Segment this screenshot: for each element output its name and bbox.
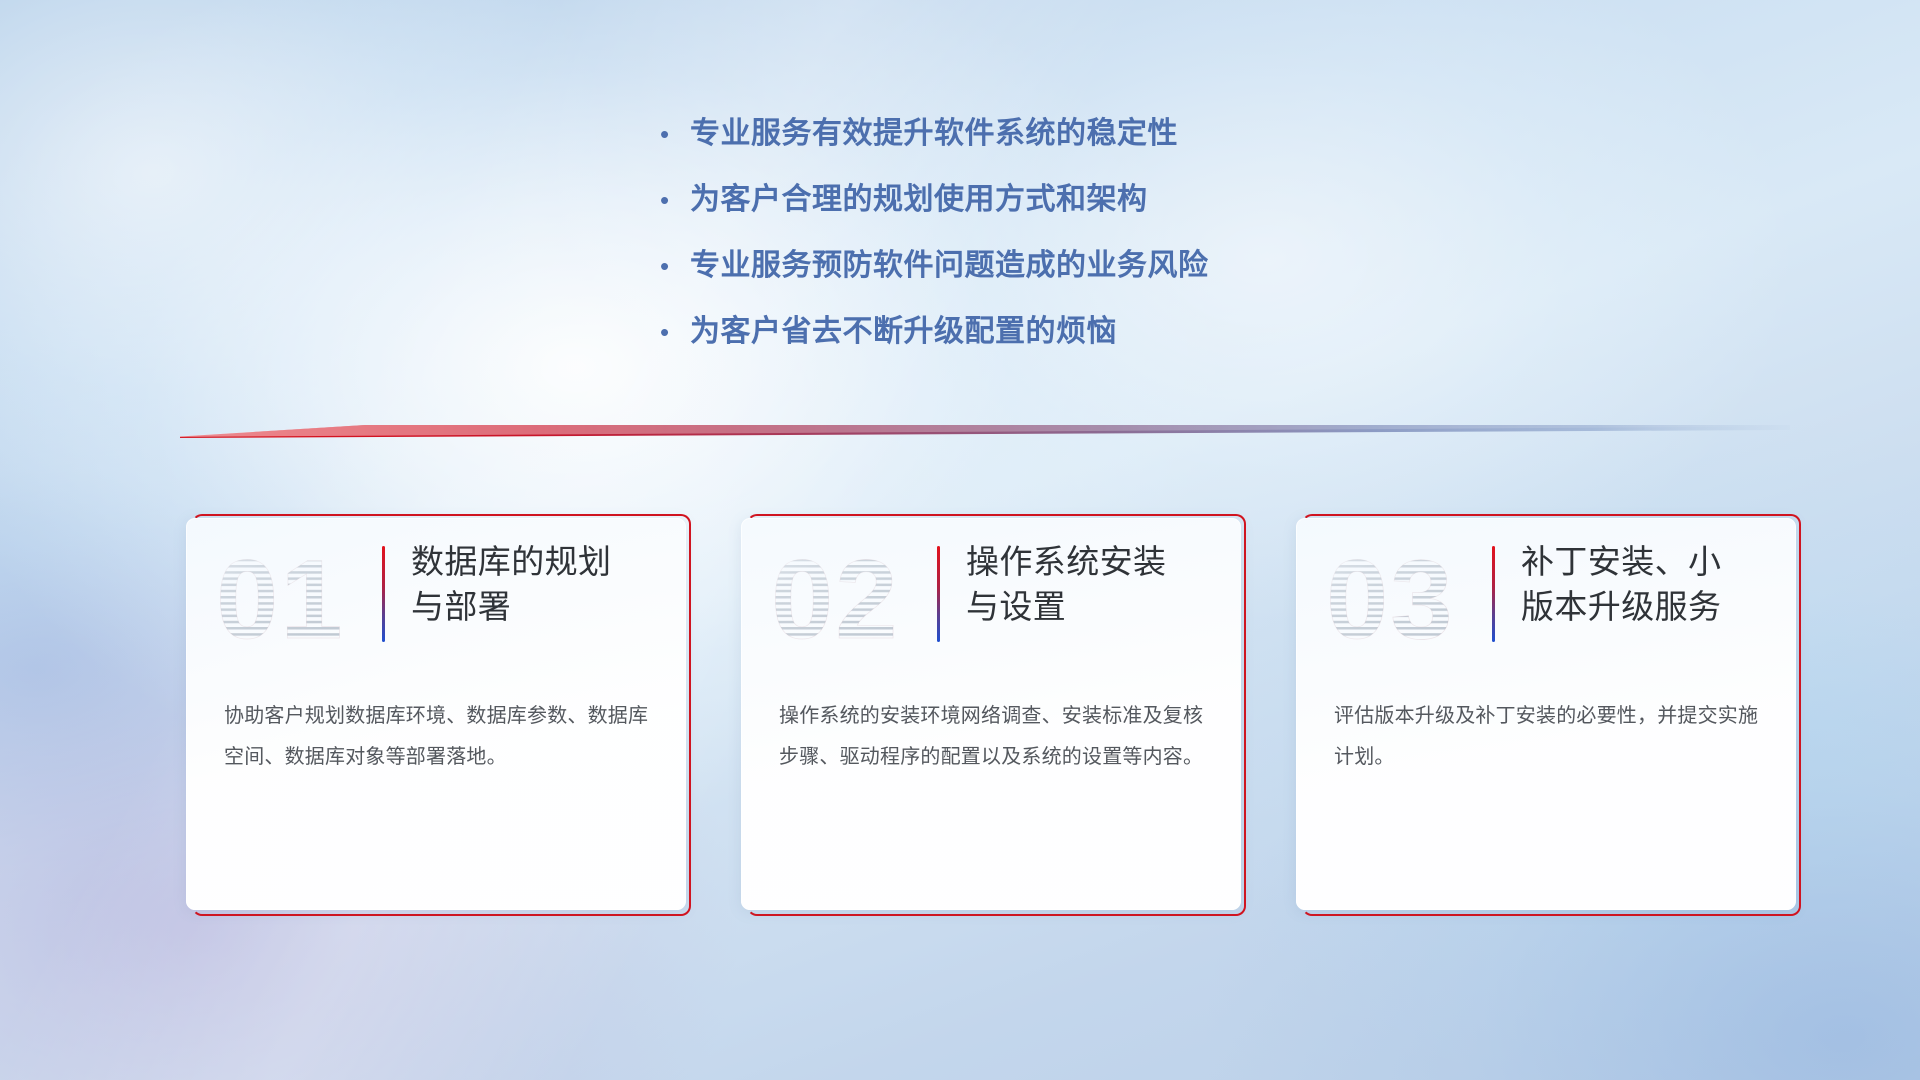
- benefits-bullet-list: • 专业服务有效提升软件系统的稳定性 • 为客户合理的规划使用方式和架构 • 专…: [660, 108, 1420, 372]
- card-header-01: 数据库的规划 与部署: [382, 540, 668, 642]
- svg-text:03: 03: [1326, 537, 1455, 662]
- svg-text:01: 01: [216, 537, 345, 662]
- card-body-01: 协助客户规划数据库环境、数据库参数、数据库空间、数据库对象等部署落地。: [224, 696, 654, 779]
- bullet-item-3-text: 专业服务预防软件问题造成的业务风险: [690, 240, 1209, 284]
- bullet-marker-icon: •: [660, 187, 690, 213]
- card-number-watermark-01: 01 01: [212, 534, 382, 664]
- card-title-line: 操作系统安装: [966, 540, 1166, 585]
- section-divider: [180, 418, 1790, 444]
- card-number-watermark-02: 02 02: [767, 534, 937, 664]
- card-body-03: 评估版本升级及补丁安装的必要性，并提交实施计划。: [1334, 696, 1764, 779]
- card-title-line: 补丁安装、小: [1521, 540, 1721, 585]
- card-title-accent-bar: [937, 546, 940, 642]
- card-header-02: 操作系统安装 与设置: [937, 540, 1223, 642]
- bullet-item-3: • 专业服务预防软件问题造成的业务风险: [660, 240, 1420, 306]
- svg-text:01: 01: [216, 537, 345, 662]
- svg-text:02: 02: [771, 537, 900, 662]
- card-title-accent-bar: [382, 546, 385, 642]
- card-title-02: 操作系统安装 与设置: [966, 540, 1166, 630]
- bullet-item-4-text: 为客户省去不断升级配置的烦恼: [690, 306, 1117, 350]
- bullet-item-1: • 专业服务有效提升软件系统的稳定性: [660, 108, 1420, 174]
- service-card-02[interactable]: 02 02 操作系统安装 与设置 操作系统的安装环境网络调查、安装标准及复核步骤…: [741, 518, 1241, 910]
- bullet-item-2: • 为客户合理的规划使用方式和架构: [660, 174, 1420, 240]
- bullet-item-2-text: 为客户合理的规划使用方式和架构: [690, 174, 1148, 218]
- card-title-line: 数据库的规划: [411, 540, 611, 585]
- slide-root: • 专业服务有效提升软件系统的稳定性 • 为客户合理的规划使用方式和架构 • 专…: [0, 0, 1920, 1080]
- service-card-row: 01 01 数据库的规划 与部署 协助客户规划数据库环境、数据库参数、数据库空间…: [186, 518, 1796, 910]
- svg-text:03: 03: [1326, 537, 1455, 662]
- card-title-03: 补丁安装、小 版本升级服务: [1521, 540, 1721, 630]
- card-number-watermark-03: 03 03: [1322, 534, 1492, 664]
- bullet-item-1-text: 专业服务有效提升软件系统的稳定性: [690, 108, 1178, 152]
- card-title-01: 数据库的规划 与部署: [411, 540, 611, 630]
- service-card-03[interactable]: 03 03 补丁安装、小 版本升级服务 评估版本升级及补丁安装的必要性，并提交实…: [1296, 518, 1796, 910]
- card-body-02: 操作系统的安装环境网络调查、安装标准及复核步骤、驱动程序的配置以及系统的设置等内…: [779, 696, 1209, 779]
- bullet-marker-icon: •: [660, 121, 690, 147]
- card-title-line: 与部署: [411, 585, 611, 630]
- card-title-line: 版本升级服务: [1521, 585, 1721, 630]
- card-title-line: 与设置: [966, 585, 1166, 630]
- card-title-accent-bar: [1492, 546, 1495, 642]
- bullet-marker-icon: •: [660, 253, 690, 279]
- bullet-item-4: • 为客户省去不断升级配置的烦恼: [660, 306, 1420, 372]
- bullet-marker-icon: •: [660, 319, 690, 345]
- svg-text:02: 02: [771, 537, 900, 662]
- service-card-01[interactable]: 01 01 数据库的规划 与部署 协助客户规划数据库环境、数据库参数、数据库空间…: [186, 518, 686, 910]
- card-header-03: 补丁安装、小 版本升级服务: [1492, 540, 1778, 642]
